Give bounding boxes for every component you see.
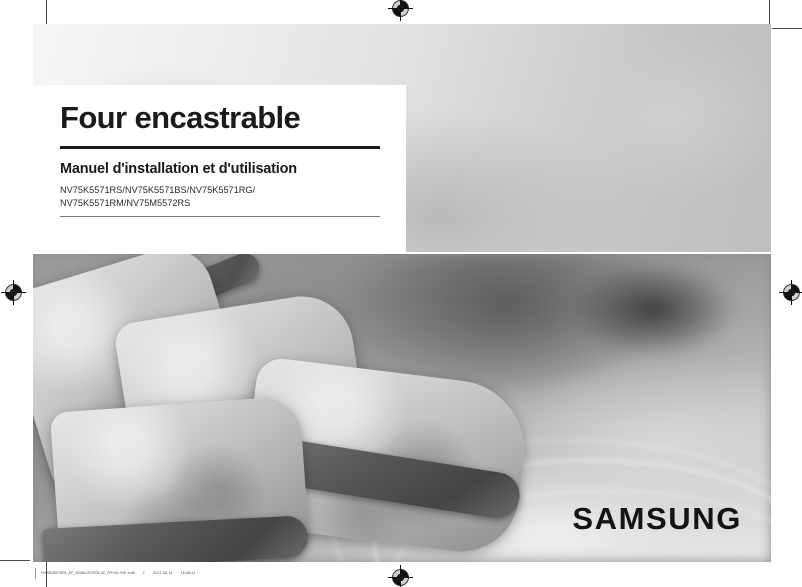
cover-photo-bread: SAMSUNG bbox=[33, 254, 771, 562]
registration-mark-top bbox=[392, 0, 409, 17]
registration-mark-right bbox=[783, 284, 800, 301]
title-card: Four encastrable Manuel d'installation e… bbox=[33, 85, 406, 253]
registration-mark-bottom bbox=[392, 569, 409, 586]
samsung-logo: SAMSUNG bbox=[572, 503, 742, 534]
footer-filename: NV75K5571RS_EF_DG68-00757A-02_FR+NL+DE.i… bbox=[41, 571, 135, 575]
cover-page: SAMSUNG Four encastrable Manuel d'instal… bbox=[0, 0, 802, 587]
page-title: Four encastrable bbox=[60, 102, 392, 135]
footer-print-slug: NV75K5571RS_EF_DG68-00757A-02_FR+NL+DE.i… bbox=[41, 571, 202, 575]
title-divider-thick bbox=[60, 146, 380, 149]
footer-rule bbox=[35, 568, 36, 579]
crop-mark-right-upper bbox=[772, 28, 802, 29]
model-number-list: NV75K5571RS/NV75K5571BS/NV75K5571RG/ NV7… bbox=[60, 184, 392, 210]
footer-time: 16:08:41 bbox=[181, 571, 196, 575]
footer-date: 2017-06-14 bbox=[153, 571, 172, 575]
page-subtitle: Manuel d'installation et d'utilisation bbox=[60, 161, 392, 178]
title-card-content: Four encastrable Manuel d'installation e… bbox=[60, 102, 392, 217]
crop-mark-left-lower bbox=[0, 560, 30, 561]
footer-page-number: 1 bbox=[143, 571, 145, 575]
registration-mark-left bbox=[5, 284, 22, 301]
model-number-line-2: NV75K5571RM/NV75M5572RS bbox=[60, 197, 392, 210]
title-divider-thin bbox=[60, 216, 380, 217]
model-number-line-1: NV75K5571RS/NV75K5571BS/NV75K5571RG/ bbox=[60, 184, 392, 197]
